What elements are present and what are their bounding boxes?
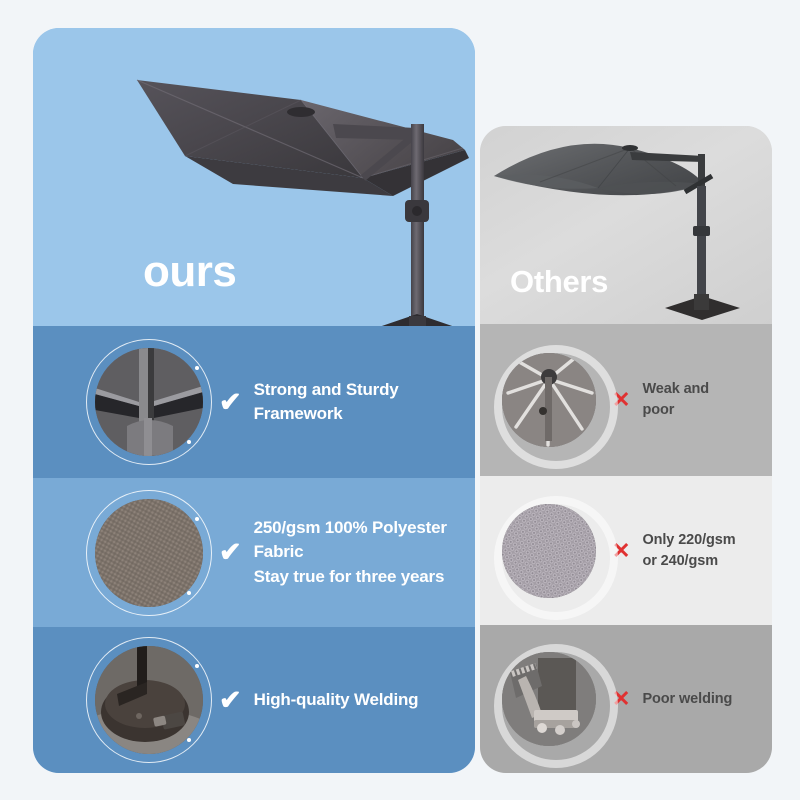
feature-line: Only 220/gsm <box>642 530 735 551</box>
ring-dot-bottom <box>187 738 191 742</box>
others-hero-panel: Others <box>480 126 772 324</box>
ours-hero-label: ours <box>143 250 236 294</box>
ours-fabric-thumbnail <box>95 499 203 607</box>
feature-line: Strong and Sturdy <box>254 378 399 402</box>
others-fabric-thumbnail <box>502 504 596 598</box>
ring-dot-bottom <box>187 591 191 595</box>
others-feature-text-welding: ✕ Poor welding <box>612 688 732 710</box>
ring-dot-top <box>195 517 199 521</box>
comparison-board: ours <box>0 0 800 800</box>
others-thumb-wrap-framework <box>502 353 596 447</box>
feature-line: Stay true for three years <box>254 565 447 589</box>
feature-line: poor <box>642 400 709 421</box>
others-feature-text-framework: ✕ Weak and poor <box>612 379 709 420</box>
check-icon: ✔ <box>219 687 242 714</box>
others-framework-thumbnail <box>502 353 596 447</box>
ring-dot-top <box>195 366 199 370</box>
others-hero-label: Others <box>510 266 608 297</box>
feature-line: or 240/gsm <box>642 551 735 572</box>
cross-icon: ✕ <box>612 688 630 710</box>
feature-line: 250/gsm 100% Polyester <box>254 516 447 540</box>
others-welding-thumbnail <box>502 652 596 746</box>
others-feature-text-fabric: ✕ Only 220/gsm or 240/gsm <box>612 530 736 571</box>
ours-feature-row-welding: ✔ High-quality Welding <box>33 627 475 773</box>
ours-column: ours <box>33 28 475 773</box>
ours-feature-row-fabric: ✔ 250/gsm 100% Polyester Fabric Stay tru… <box>33 478 475 627</box>
check-icon: ✔ <box>219 389 242 416</box>
others-column: Others <box>480 126 772 773</box>
others-thumb-wrap-welding <box>502 652 596 746</box>
ours-feature-text-welding: ✔ High-quality Welding <box>219 687 418 714</box>
feature-line: Framework <box>254 402 399 426</box>
ours-thumb-wrap-welding <box>95 646 203 754</box>
ours-feature-row-framework: ✔ Strong and Sturdy Framework <box>33 326 475 478</box>
ring-dot-bottom <box>187 440 191 444</box>
others-feature-row-fabric: ✕ Only 220/gsm or 240/gsm <box>480 476 772 625</box>
ours-feature-text-framework: ✔ Strong and Sturdy Framework <box>219 378 399 426</box>
feature-line: High-quality Welding <box>254 688 419 712</box>
ours-framework-thumbnail <box>95 348 203 456</box>
others-feature-row-welding: ✕ Poor welding <box>480 625 772 773</box>
ours-thumb-wrap-fabric <box>95 499 203 607</box>
ours-umbrella-illustration <box>33 28 475 326</box>
others-feature-row-framework: ✕ Weak and poor <box>480 324 772 476</box>
ring-dot-top <box>195 664 199 668</box>
ours-feature-text-fabric: ✔ 250/gsm 100% Polyester Fabric Stay tru… <box>219 516 447 588</box>
ours-hero-panel: ours <box>33 28 475 326</box>
cross-icon: ✕ <box>612 540 630 562</box>
feature-line: Weak and <box>642 379 709 400</box>
check-icon: ✔ <box>219 539 242 566</box>
feature-line: Fabric <box>254 540 447 564</box>
ours-welding-thumbnail <box>95 646 203 754</box>
others-thumb-wrap-fabric <box>502 504 596 598</box>
cross-icon: ✕ <box>612 389 630 411</box>
feature-line: Poor welding <box>642 689 732 710</box>
ours-thumb-wrap-framework <box>95 348 203 456</box>
